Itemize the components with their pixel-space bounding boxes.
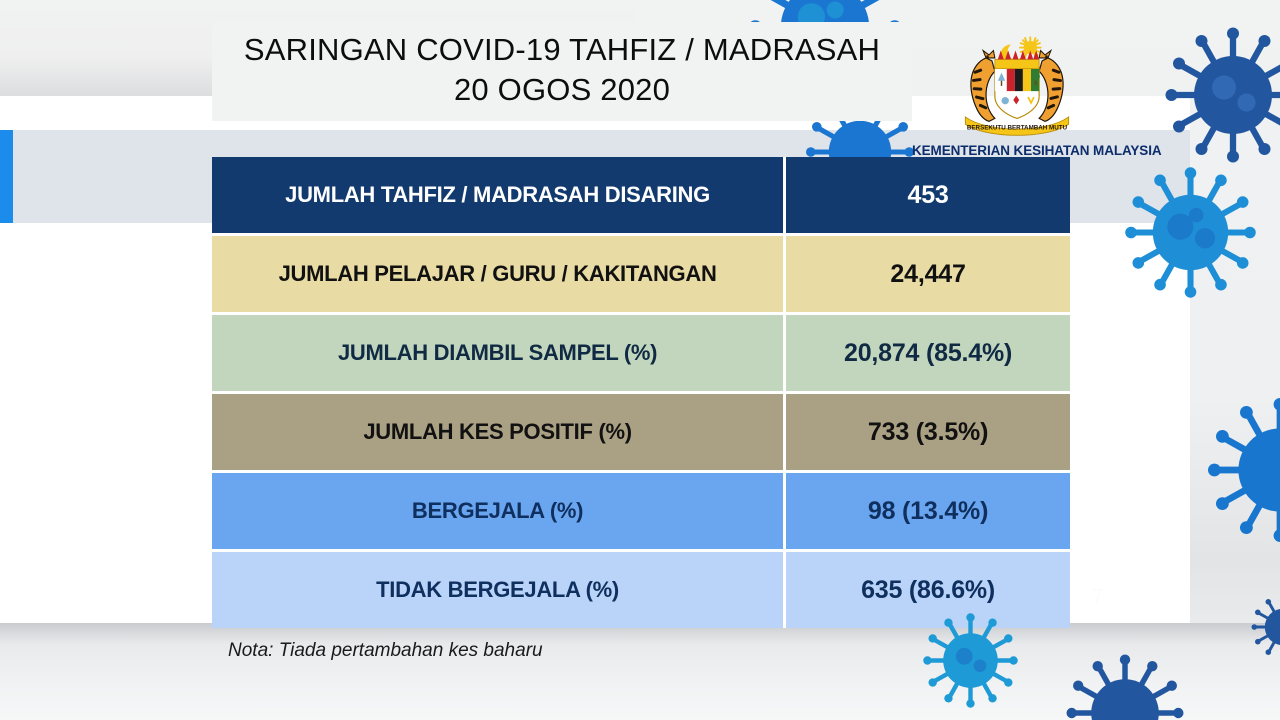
row-value: 635 (86.6%) — [786, 552, 1070, 628]
table-row: JUMLAH KES POSITIF (%) 733 (3.5%) — [212, 394, 1070, 473]
row-value: 20,874 (85.4%) — [786, 315, 1070, 394]
footer-note: Nota: Tiada pertambahan kes baharu — [228, 640, 543, 662]
row-value: 98 (13.4%) — [786, 473, 1070, 552]
background-bottom-shade — [0, 623, 1280, 720]
ministry-logo-caption: KEMENTERIAN KESIHATAN MALAYSIA — [912, 143, 1122, 158]
page-number: 7 — [1092, 586, 1103, 609]
page-title: SARINGAN COVID-19 TAHFIZ / MADRASAH 20 O… — [212, 22, 912, 121]
table-row: BERGEJALA (%) 98 (13.4%) — [212, 473, 1070, 552]
row-label: JUMLAH KES POSITIF (%) — [212, 394, 786, 473]
left-accent-bar — [0, 130, 13, 223]
row-label: JUMLAH PELAJAR / GURU / KAKITANGAN — [212, 236, 786, 315]
row-value: 24,447 — [786, 236, 1070, 315]
table-row: JUMLAH DIAMBIL SAMPEL (%) 20,874 (85.4%) — [212, 315, 1070, 394]
title-line-2: 20 OGOS 2020 — [212, 70, 912, 110]
table-row: TIDAK BERGEJALA (%) 635 (86.6%) — [212, 552, 1070, 628]
title-line-1: SARINGAN COVID-19 TAHFIZ / MADRASAH — [212, 30, 912, 70]
ministry-logo: BERSEKUTU BERTAMBAH MUTU KEMENTERIAN KES… — [912, 24, 1122, 158]
svg-text:BERSEKUTU BERTAMBAH MUTU: BERSEKUTU BERTAMBAH MUTU — [967, 124, 1068, 131]
table-row: JUMLAH PELAJAR / GURU / KAKITANGAN 24,44… — [212, 236, 1070, 315]
row-label: JUMLAH TAHFIZ / MADRASAH DISARING — [212, 157, 786, 236]
row-label: JUMLAH DIAMBIL SAMPEL (%) — [212, 315, 786, 394]
table-row: JUMLAH TAHFIZ / MADRASAH DISARING 453 — [212, 157, 1070, 236]
row-value: 453 — [786, 157, 1070, 236]
screening-stats-table: JUMLAH TAHFIZ / MADRASAH DISARING 453 JU… — [212, 157, 1070, 628]
row-label: BERGEJALA (%) — [212, 473, 786, 552]
row-label: TIDAK BERGEJALA (%) — [212, 552, 786, 628]
row-value: 733 (3.5%) — [786, 394, 1070, 473]
slide-canvas: SARINGAN COVID-19 TAHFIZ / MADRASAH 20 O… — [0, 0, 1280, 720]
malaysia-coat-of-arms-icon: BERSEKUTU BERTAMBAH MUTU — [942, 24, 1092, 142]
table-body: JUMLAH TAHFIZ / MADRASAH DISARING 453 JU… — [212, 157, 1070, 628]
